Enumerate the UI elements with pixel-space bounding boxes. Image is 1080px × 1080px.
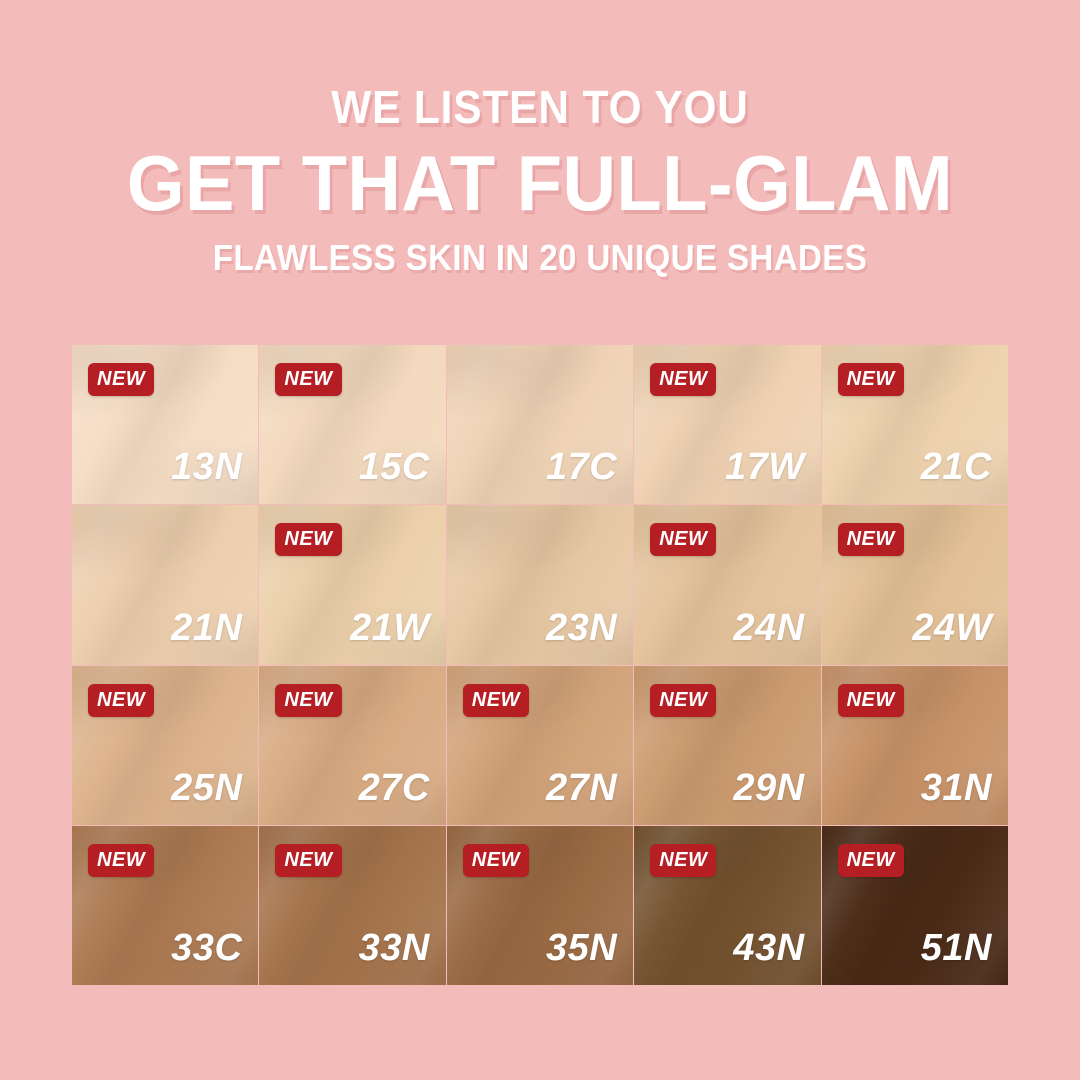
shade-code-label: 51N	[921, 929, 992, 967]
new-badge: NEW	[838, 523, 904, 556]
shade-code-label: 24N	[733, 609, 804, 647]
shade-code-label: 15C	[359, 448, 430, 486]
shade-code-label: 24W	[912, 609, 992, 647]
new-badge: NEW	[275, 844, 341, 877]
shade-swatch[interactable]: NEW24N	[634, 505, 820, 664]
shade-swatch[interactable]: NEW27N	[447, 666, 633, 825]
new-badge: NEW	[275, 523, 341, 556]
shade-code-label: 13N	[171, 448, 242, 486]
shade-swatch[interactable]: 23N	[447, 505, 633, 664]
shade-code-label: 27C	[359, 769, 430, 807]
shade-grid: NEW13NNEW15C17CNEW17WNEW21C21NNEW21W23NN…	[72, 345, 1008, 985]
shade-swatch[interactable]: NEW35N	[447, 826, 633, 985]
new-badge: NEW	[88, 844, 154, 877]
shade-code-label: 31N	[921, 769, 992, 807]
shade-swatch[interactable]: NEW33N	[259, 826, 445, 985]
new-badge: NEW	[275, 363, 341, 396]
new-badge: NEW	[650, 844, 716, 877]
new-badge: NEW	[838, 684, 904, 717]
shade-swatch[interactable]: NEW43N	[634, 826, 820, 985]
shade-code-label: 43N	[733, 929, 804, 967]
shade-swatch[interactable]: NEW31N	[822, 666, 1008, 825]
shade-swatch[interactable]: NEW24W	[822, 505, 1008, 664]
shade-swatch[interactable]: NEW17W	[634, 345, 820, 504]
shade-swatch[interactable]: 21N	[72, 505, 258, 664]
shade-swatch[interactable]: NEW33C	[72, 826, 258, 985]
shade-code-label: 25N	[171, 769, 242, 807]
new-badge: NEW	[838, 844, 904, 877]
shade-code-label: 35N	[546, 929, 617, 967]
shade-code-label: 17C	[546, 448, 617, 486]
new-badge: NEW	[838, 363, 904, 396]
shade-swatch[interactable]: NEW21C	[822, 345, 1008, 504]
shade-code-label: 23N	[546, 609, 617, 647]
shade-range-poster: WE LISTEN TO YOU GET THAT FULL-GLAM FLAW…	[0, 0, 1080, 1080]
headline-subtitle: FLAWLESS SKIN IN 20 UNIQUE SHADES	[43, 240, 1037, 276]
shade-code-label: 21C	[921, 448, 992, 486]
shade-code-label: 33C	[171, 929, 242, 967]
headline-block: WE LISTEN TO YOU GET THAT FULL-GLAM FLAW…	[0, 84, 1080, 276]
shade-swatch[interactable]: NEW51N	[822, 826, 1008, 985]
shade-code-label: 33N	[359, 929, 430, 967]
new-badge: NEW	[650, 363, 716, 396]
new-badge: NEW	[275, 684, 341, 717]
shade-swatch[interactable]: NEW21W	[259, 505, 445, 664]
shade-swatch[interactable]: NEW29N	[634, 666, 820, 825]
shade-swatch[interactable]: NEW27C	[259, 666, 445, 825]
new-badge: NEW	[650, 684, 716, 717]
shade-code-label: 29N	[733, 769, 804, 807]
shade-code-label: 27N	[546, 769, 617, 807]
shade-swatch[interactable]: 17C	[447, 345, 633, 504]
shade-code-label: 21N	[171, 609, 242, 647]
headline-eyebrow: WE LISTEN TO YOU	[43, 84, 1037, 130]
new-badge: NEW	[463, 844, 529, 877]
new-badge: NEW	[463, 684, 529, 717]
headline-main: GET THAT FULL-GLAM	[27, 144, 1053, 222]
shade-code-label: 17W	[725, 448, 805, 486]
shade-code-label: 21W	[350, 609, 430, 647]
new-badge: NEW	[88, 684, 154, 717]
shade-swatch[interactable]: NEW25N	[72, 666, 258, 825]
shade-swatch[interactable]: NEW15C	[259, 345, 445, 504]
shade-swatch[interactable]: NEW13N	[72, 345, 258, 504]
new-badge: NEW	[650, 523, 716, 556]
new-badge: NEW	[88, 363, 154, 396]
